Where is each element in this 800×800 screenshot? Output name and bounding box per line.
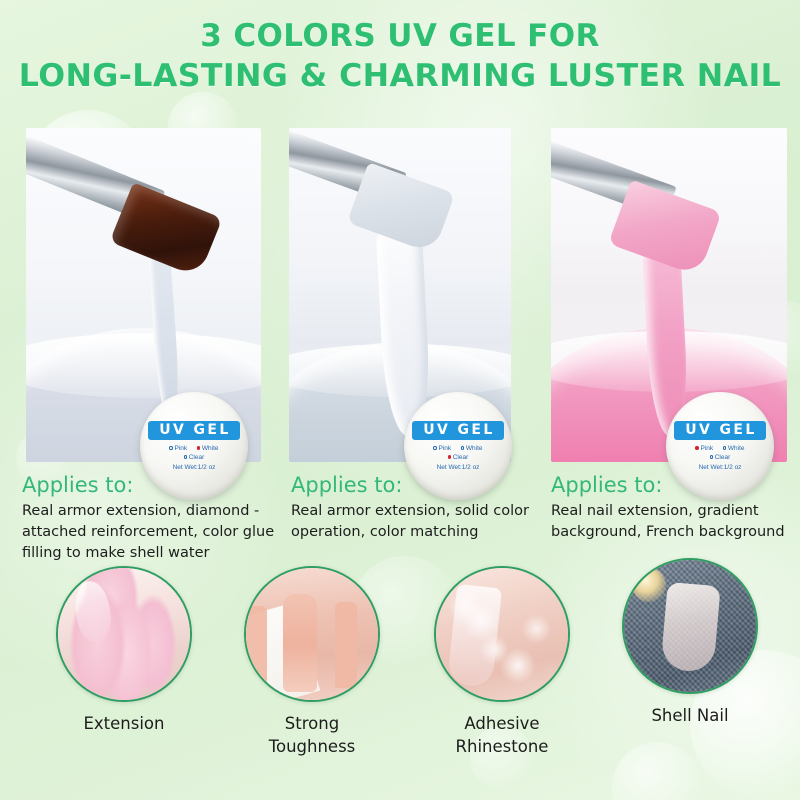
- radio-dot-icon: [169, 446, 173, 450]
- product-infographic: 3 COLORS UV GEL FOR LONG-LASTING & CHARM…: [0, 0, 800, 800]
- jar-net-weight: Net Wet:1/2 oz: [429, 463, 486, 472]
- radio-dot-selected-icon: [695, 446, 699, 450]
- applies-block-pink-gel: Applies to: Real nail extension, gradien…: [551, 472, 799, 543]
- page-title: 3 COLORS UV GEL FOR LONG-LASTING & CHARM…: [0, 16, 800, 96]
- nail-photo-rhinestone: [436, 568, 568, 700]
- feature-photo-circle: [56, 566, 192, 702]
- radio-dot-icon: [184, 455, 188, 459]
- uv-gel-badge: UV GEL: [674, 421, 765, 440]
- jar-option-list: Pink White Clear Net Wet:1/2 oz: [691, 444, 748, 472]
- nail-photo-shell: [624, 560, 756, 692]
- radio-dot-icon: [723, 446, 727, 450]
- nail-photo-toughness: [246, 568, 378, 700]
- uv-gel-jar-clear: UV GEL Pink White Clear Net Wet:1/2 oz: [404, 392, 512, 500]
- jar-option-white: White: [723, 444, 745, 453]
- jar-option-white: White: [197, 444, 219, 453]
- feature-shell-nail: Shell Nail: [606, 558, 774, 727]
- feature-extension: Extension: [40, 566, 208, 735]
- jar-net-weight: Net Wet:1/2 oz: [165, 463, 222, 472]
- feature-label: Extension: [40, 712, 208, 735]
- radio-dot-selected-icon: [197, 446, 201, 450]
- feature-photo-circle: [434, 566, 570, 702]
- applies-block-dark-gel: Applies to: Real armor extension, diamon…: [22, 472, 284, 564]
- feature-photo-circle: [244, 566, 380, 702]
- feature-gallery: Extension StrongToughness AdhesiveRhines…: [0, 566, 800, 800]
- radio-dot-icon: [461, 446, 465, 450]
- uv-gel-badge: UV GEL: [148, 421, 239, 440]
- feature-label: Shell Nail: [606, 704, 774, 727]
- applies-description: Real armor extension, diamond -attached …: [22, 501, 284, 564]
- nail-photo-extension: [58, 568, 190, 700]
- radio-dot-selected-icon: [448, 455, 452, 459]
- uv-gel-badge: UV GEL: [412, 421, 503, 440]
- feature-label: StrongToughness: [228, 712, 396, 758]
- jar-option-clear: Clear: [710, 453, 731, 462]
- applies-description: Real nail extension, gradient background…: [551, 501, 799, 543]
- applies-description: Real armor extension, solid color operat…: [291, 501, 546, 543]
- jar-option-clear: Clear: [184, 453, 205, 462]
- feature-photo-circle: [622, 558, 758, 694]
- feature-adhesive-rhinestone: AdhesiveRhinestone: [418, 566, 586, 758]
- feature-label: AdhesiveRhinestone: [418, 712, 586, 758]
- uv-gel-jar-pink: UV GEL Pink White Clear Net Wet:1/2 oz: [666, 392, 774, 500]
- feature-strong-toughness: StrongToughness: [228, 566, 396, 758]
- radio-dot-icon: [710, 455, 714, 459]
- jar-net-weight: Net Wet:1/2 oz: [691, 463, 748, 472]
- jar-option-clear: Clear: [448, 453, 469, 462]
- jar-option-pink: Pink: [695, 444, 713, 453]
- jar-option-list: Pink White Clear Net Wet:1/2 oz: [429, 444, 486, 472]
- jar-option-white: White: [461, 444, 483, 453]
- page-title-line-1: 3 COLORS UV GEL FOR: [200, 18, 600, 54]
- jar-option-list: Pink White Clear Net Wet:1/2 oz: [165, 444, 222, 472]
- uv-gel-jar-white: UV GEL Pink White Clear Net Wet:1/2 oz: [140, 392, 248, 500]
- radio-dot-icon: [433, 446, 437, 450]
- jar-option-pink: Pink: [433, 444, 451, 453]
- jar-option-pink: Pink: [169, 444, 187, 453]
- page-title-line-2: LONG-LASTING & CHARMING LUSTER NAIL: [0, 56, 800, 96]
